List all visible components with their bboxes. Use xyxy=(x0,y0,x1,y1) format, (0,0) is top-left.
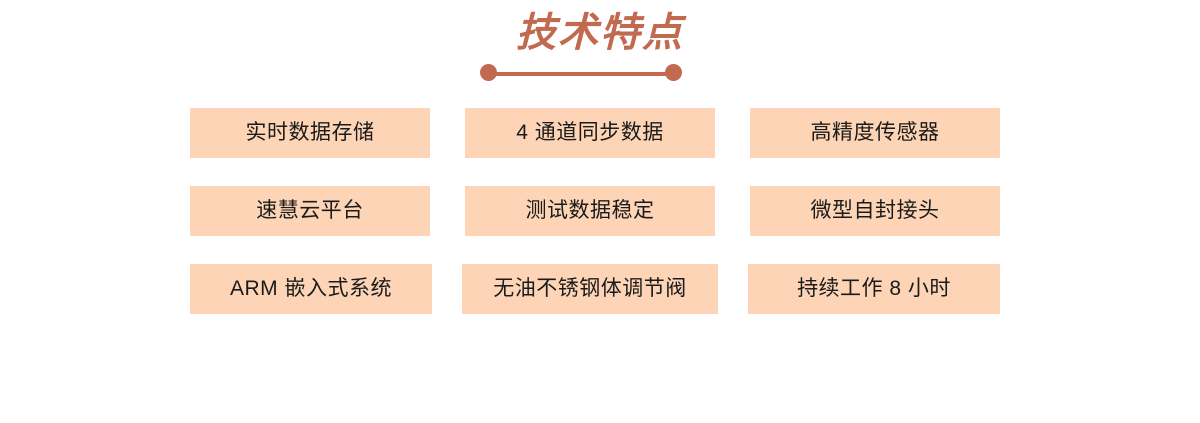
feature-card[interactable]: 微型自封接头 xyxy=(750,186,1000,236)
feature-card[interactable]: 持续工作 8 小时 xyxy=(748,264,1000,314)
feature-card[interactable]: ARM 嵌入式系统 xyxy=(190,264,432,314)
feature-card-label: 测试数据稳定 xyxy=(526,186,655,236)
feature-row: 实时数据存储 4 通道同步数据 高精度传感器 xyxy=(0,108,1200,158)
feature-card[interactable]: 4 通道同步数据 xyxy=(465,108,715,158)
feature-card[interactable]: 速慧云平台 xyxy=(190,186,430,236)
feature-highlights-page: 技术特点 实时数据存储 4 通道同步数据 高精度传感器 速慧云平台 xyxy=(0,0,1200,423)
feature-card-label: 高精度传感器 xyxy=(811,108,940,158)
feature-card[interactable]: 测试数据稳定 xyxy=(465,186,715,236)
title-divider xyxy=(480,70,682,78)
feature-card[interactable]: 高精度传感器 xyxy=(750,108,1000,158)
feature-row: 速慧云平台 测试数据稳定 微型自封接头 xyxy=(0,186,1200,236)
feature-grid: 实时数据存储 4 通道同步数据 高精度传感器 速慧云平台 测试数据稳定 微型自封… xyxy=(0,108,1200,314)
feature-card-label: ARM 嵌入式系统 xyxy=(230,264,392,314)
feature-card-label: 无油不锈钢体调节阀 xyxy=(493,264,687,314)
feature-card-label: 微型自封接头 xyxy=(811,186,940,236)
feature-row: ARM 嵌入式系统 无油不锈钢体调节阀 持续工作 8 小时 xyxy=(0,264,1200,314)
divider-bar xyxy=(488,72,674,76)
feature-card-label: 持续工作 8 小时 xyxy=(797,264,951,314)
title-block: 技术特点 xyxy=(470,8,730,94)
feature-card-label: 4 通道同步数据 xyxy=(516,108,664,158)
feature-card[interactable]: 无油不锈钢体调节阀 xyxy=(462,264,718,314)
feature-card[interactable]: 实时数据存储 xyxy=(190,108,430,158)
divider-left-dot-icon xyxy=(480,64,497,81)
page-title: 技术特点 xyxy=(470,8,730,58)
feature-card-label: 速慧云平台 xyxy=(256,186,364,236)
feature-card-label: 实时数据存储 xyxy=(246,108,375,158)
divider-right-dot-icon xyxy=(665,64,682,81)
section-header: 技术特点 xyxy=(0,0,1200,96)
